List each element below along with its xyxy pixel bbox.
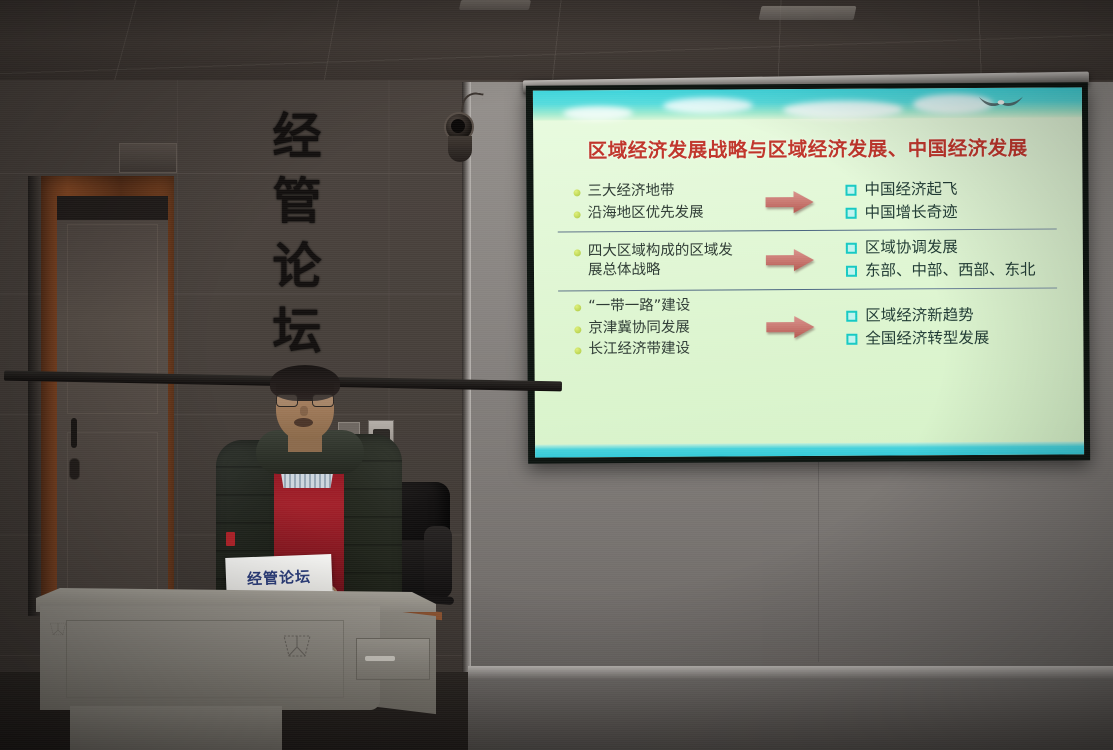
bullet-label: 京津冀协同发展 [588,318,690,338]
nameplate-text: 经管论坛 [247,565,312,588]
calligraphy-char-2: 管 [272,177,321,226]
bullet-label: 三大经济地带 [587,182,674,202]
slide-bottom-band [535,441,1084,457]
cloud-2 [783,100,903,119]
row-1-left-items: 三大经济地带 沿海地区优先发展 [533,179,741,226]
checkbox-square-icon [846,310,857,321]
row-3-left-items: “一带一路”建设 京津冀协同发展 长江经济带建设 [534,294,742,363]
presentation-slide: 区域经济发展战略与区域经济发展、中国经济发展 三大经济地带 沿海地区优先发展 [533,87,1084,457]
checkbox-label: 东部、中部、西部、东北 [865,260,1036,281]
ceiling-light-fixture [759,6,857,20]
bullet-item: 四大区域构成的区域发展总体战略 [574,241,742,280]
door[interactable] [57,196,168,616]
right-arrow-icon [763,189,815,215]
slide-row-1: 三大经济地带 沿海地区优先发展 [533,175,1082,228]
door-panel-lower [67,432,158,598]
bullet-item: 京津冀协同发展 [574,318,742,338]
nose [300,406,308,416]
right-arrow-icon [764,247,816,273]
lecture-hall-photo: 经 管 论 坛 区域经济发展战略与区域经济发展、中国经济发展 [0,0,1113,750]
row-3-arrow [742,314,838,341]
checkbox-item: 全国经济转型发展 [846,327,1083,349]
door-lock[interactable] [69,458,80,480]
row-1-right-items: 中国经济起飞 中国增长奇迹 [837,175,1082,226]
bullet-dot-icon [573,190,580,197]
slide-title: 区域经济发展战略与区域经济发展、中国经济发展 [533,131,1082,163]
glasses-right-lens [312,394,334,407]
camera-body [448,136,472,162]
university-emblem-icon [280,632,314,660]
glasses-left-lens [276,394,298,407]
bullet-label: 四大区域构成的区域发展总体战略 [588,241,742,280]
checkbox-label: 区域协调发展 [865,237,958,258]
lectern [36,588,436,750]
slide-content-rows: 三大经济地带 沿海地区优先发展 [533,175,1083,362]
projection-screen: 区域经济发展战略与区域经济发展、中国经济发展 三大经济地带 沿海地区优先发展 [526,82,1090,463]
slide-row-2: 四大区域构成的区域发展总体战略 区域协调发 [534,234,1083,287]
checkbox-item: 东部、中部、西部、东北 [846,260,1036,281]
checkbox-square-icon [846,266,857,277]
seagull-icon [978,94,1024,108]
door-frame [41,176,174,616]
screen-wall-panel-edge [462,82,471,674]
bullet-item: 沿海地区优先发展 [574,203,742,223]
glasses-bridge [298,399,312,401]
university-emblem-icon [48,620,68,638]
row-2-left-items: 四大区域构成的区域发展总体战略 [534,239,742,284]
row-2-right-items: 区域协调发展 东部、中部、西部、东北 [838,234,1083,285]
slide-sky-banner [533,87,1082,120]
bullet-item: “一带一路”建设 [574,296,742,316]
door-shadow [28,176,42,616]
screen-border: 区域经济发展战略与区域经济发展、中国经济发展 三大经济地带 沿海地区优先发展 [526,82,1090,463]
checkbox-item: 区域经济新趋势 [846,304,1083,326]
checkbox-square-icon [846,243,857,254]
bullet-dot-icon [574,326,581,333]
lectern-drawer[interactable] [356,638,430,680]
slide-divider-2 [558,287,1057,291]
bullet-dot-icon [574,348,581,355]
checkbox-square-icon [846,333,857,344]
slide-divider-1 [558,229,1057,233]
checkbox-label: 区域经济新趋势 [865,305,974,326]
checkbox-square-icon [846,208,857,219]
floor-right [468,680,1113,750]
cloud-4 [563,106,633,120]
bullet-dot-icon [574,304,581,311]
wall-camera [440,110,482,166]
door-handle[interactable] [71,418,77,448]
row-2-arrow [742,247,838,274]
jacket-badge [226,532,235,546]
right-arrow-icon [764,314,816,340]
door-transom [57,196,168,220]
row-3-right-items: 区域经济新趋势 全国经济转型发展 [838,301,1083,352]
lectern-base [70,706,282,750]
checkbox-item: 中国经济起飞 [845,178,1082,200]
calligraphy-char-4: 坛 [272,307,321,356]
wall-calligraphy: 经 管 论 坛 [251,112,343,356]
cloud-1 [663,97,753,114]
door-panel-upper [67,224,158,414]
bullet-item: 长江经济带建设 [574,340,742,360]
bullet-item: 三大经济地带 [573,182,741,202]
wall-vent [119,143,177,173]
bullet-label: “一带一路”建设 [588,297,690,317]
checkbox-item: 区域协调发展 [846,237,1083,259]
screen-wall-panel-base [468,666,1113,680]
checkbox-square-icon [845,185,856,196]
slide-row-3: “一带一路”建设 京津冀协同发展 长江经济带建设 [534,292,1083,363]
camera-lens-icon [451,119,465,133]
lectern-front-panel [40,606,380,710]
checkbox-label: 全国经济转型发展 [865,328,989,349]
bullet-label: 沿海地区优先发展 [588,204,704,224]
checkbox-item: 中国增长奇迹 [846,201,1083,223]
ceiling-light-fixture-2 [459,0,531,10]
calligraphy-char-1: 经 [272,112,321,161]
bullet-dot-icon [574,249,581,256]
calligraphy-char-3: 论 [272,242,321,291]
mouth [294,418,313,427]
bullet-label: 长江经济带建设 [588,340,690,360]
checkbox-label: 中国增长奇迹 [865,202,958,223]
checkbox-label: 中国经济起飞 [864,179,957,200]
row-1-arrow [741,188,837,215]
bullet-dot-icon [574,211,581,218]
